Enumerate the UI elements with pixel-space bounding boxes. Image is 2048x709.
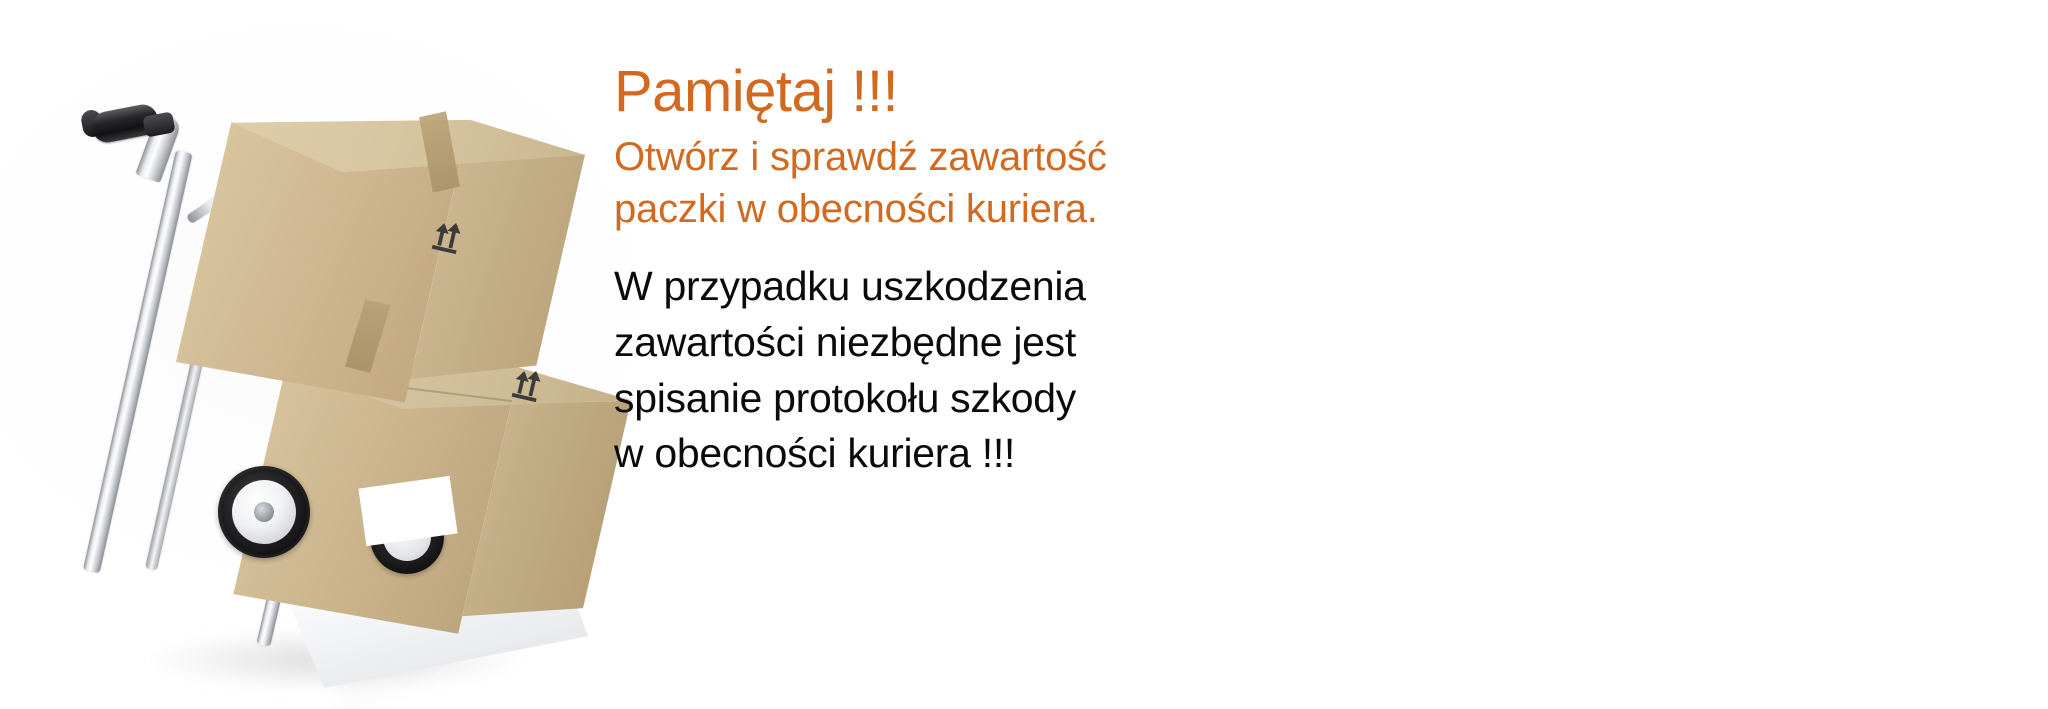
body-line-4: w obecności kuriera !!! — [614, 426, 1194, 482]
body-line-3: spisanie protokołu szkody — [614, 371, 1194, 427]
handtruck-main-wheel — [218, 466, 310, 558]
subheading-line-2: paczki w obecności kuriera. — [614, 183, 1194, 235]
courier-illustration — [1160, 0, 2048, 709]
notice-copy: Pamiętaj !!! Otwórz i sprawdź zawartość … — [614, 62, 1194, 482]
delivery-notice-banner: Pamiętaj !!! Otwórz i sprawdź zawartość … — [0, 0, 2048, 709]
body-line-2: zawartości niezbędne jest — [614, 315, 1194, 371]
subheading-line-1: Otwórz i sprawdź zawartość — [614, 131, 1194, 183]
subheading-block: Otwórz i sprawdź zawartość paczki w obec… — [614, 131, 1194, 235]
hand-truck-illustration — [40, 30, 600, 709]
body-line-1: W przypadku uszkodzenia — [614, 259, 1194, 315]
body-block: W przypadku uszkodzenia zawartości niezb… — [614, 259, 1194, 482]
page-title: Pamiętaj !!! — [614, 62, 1194, 121]
